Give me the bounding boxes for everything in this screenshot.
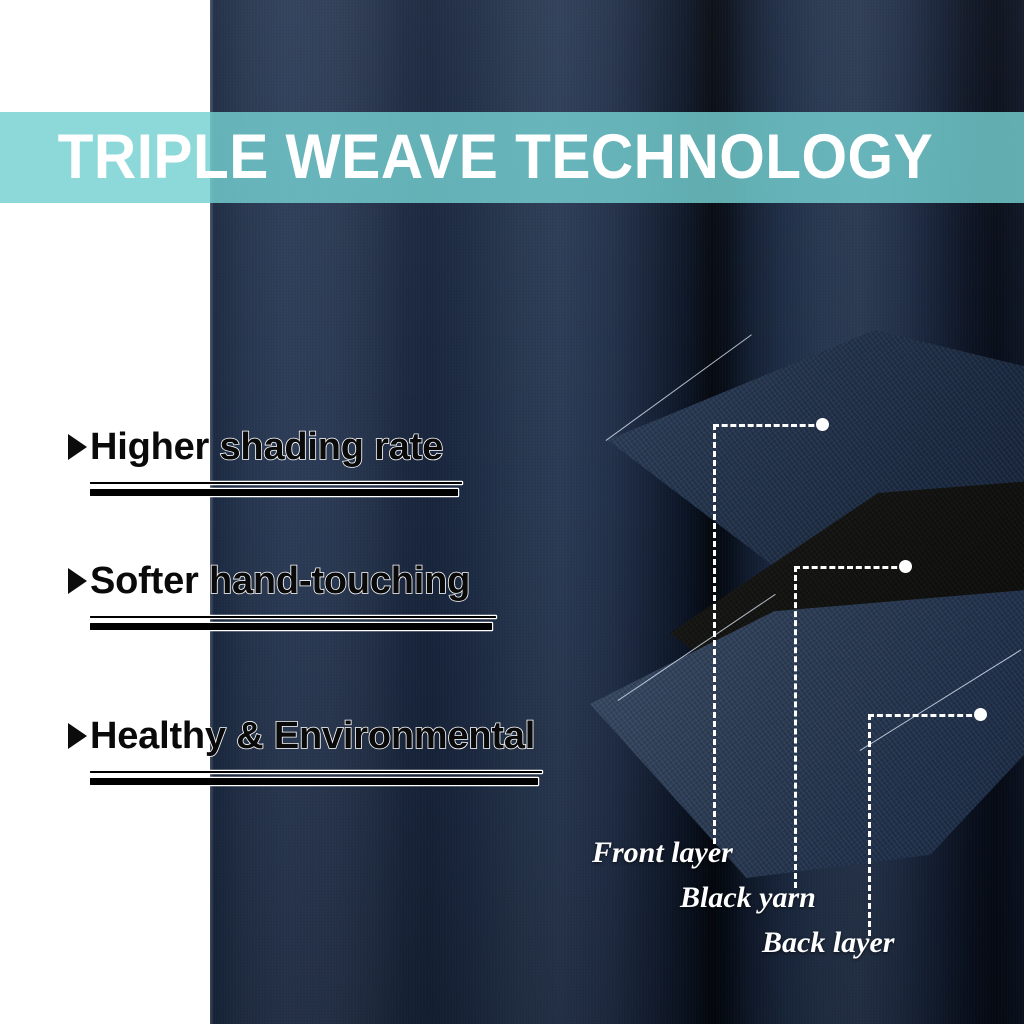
feature-rule-thin (90, 482, 462, 484)
banner-title: TRIPLE WEAVE TECHNOLOGY (0, 126, 933, 189)
headline-banner: TRIPLE WEAVE TECHNOLOGY (0, 112, 1024, 203)
feature-heading: Higher shading rate (68, 424, 462, 470)
feature-underline (90, 482, 462, 496)
feature-item-softer-hand-touching: Softer hand-touching (68, 558, 496, 630)
layer-label-front: Front layer (592, 838, 733, 868)
layer-label-black-yarn: Black yarn (680, 883, 816, 913)
feature-item-healthy-environmental: Healthy & Environmental (68, 713, 542, 785)
product-feature-image: TRIPLE WEAVE TECHNOLOGY Front layer Blac… (0, 0, 1024, 1024)
feature-underline (90, 771, 542, 785)
triangle-bullet-icon (68, 723, 87, 749)
layer-label-back: Back layer (762, 928, 894, 958)
feature-item-higher-shading-rate: Higher shading rate (68, 424, 462, 496)
triangle-bullet-icon (68, 568, 87, 594)
feature-heading: Healthy & Environmental (68, 713, 542, 759)
feature-label: Healthy & Environmental (90, 717, 535, 755)
feature-rule-thick (90, 778, 538, 785)
feature-underline (90, 616, 496, 630)
feature-rule-thin (90, 616, 496, 618)
feature-rule-thick (90, 623, 492, 630)
feature-heading: Softer hand-touching (68, 558, 496, 604)
feature-label: Higher shading rate (90, 428, 443, 466)
feature-rule-thick (90, 489, 458, 496)
feature-label: Softer hand-touching (90, 562, 470, 600)
triangle-bullet-icon (68, 434, 87, 460)
feature-rule-thin (90, 771, 542, 773)
